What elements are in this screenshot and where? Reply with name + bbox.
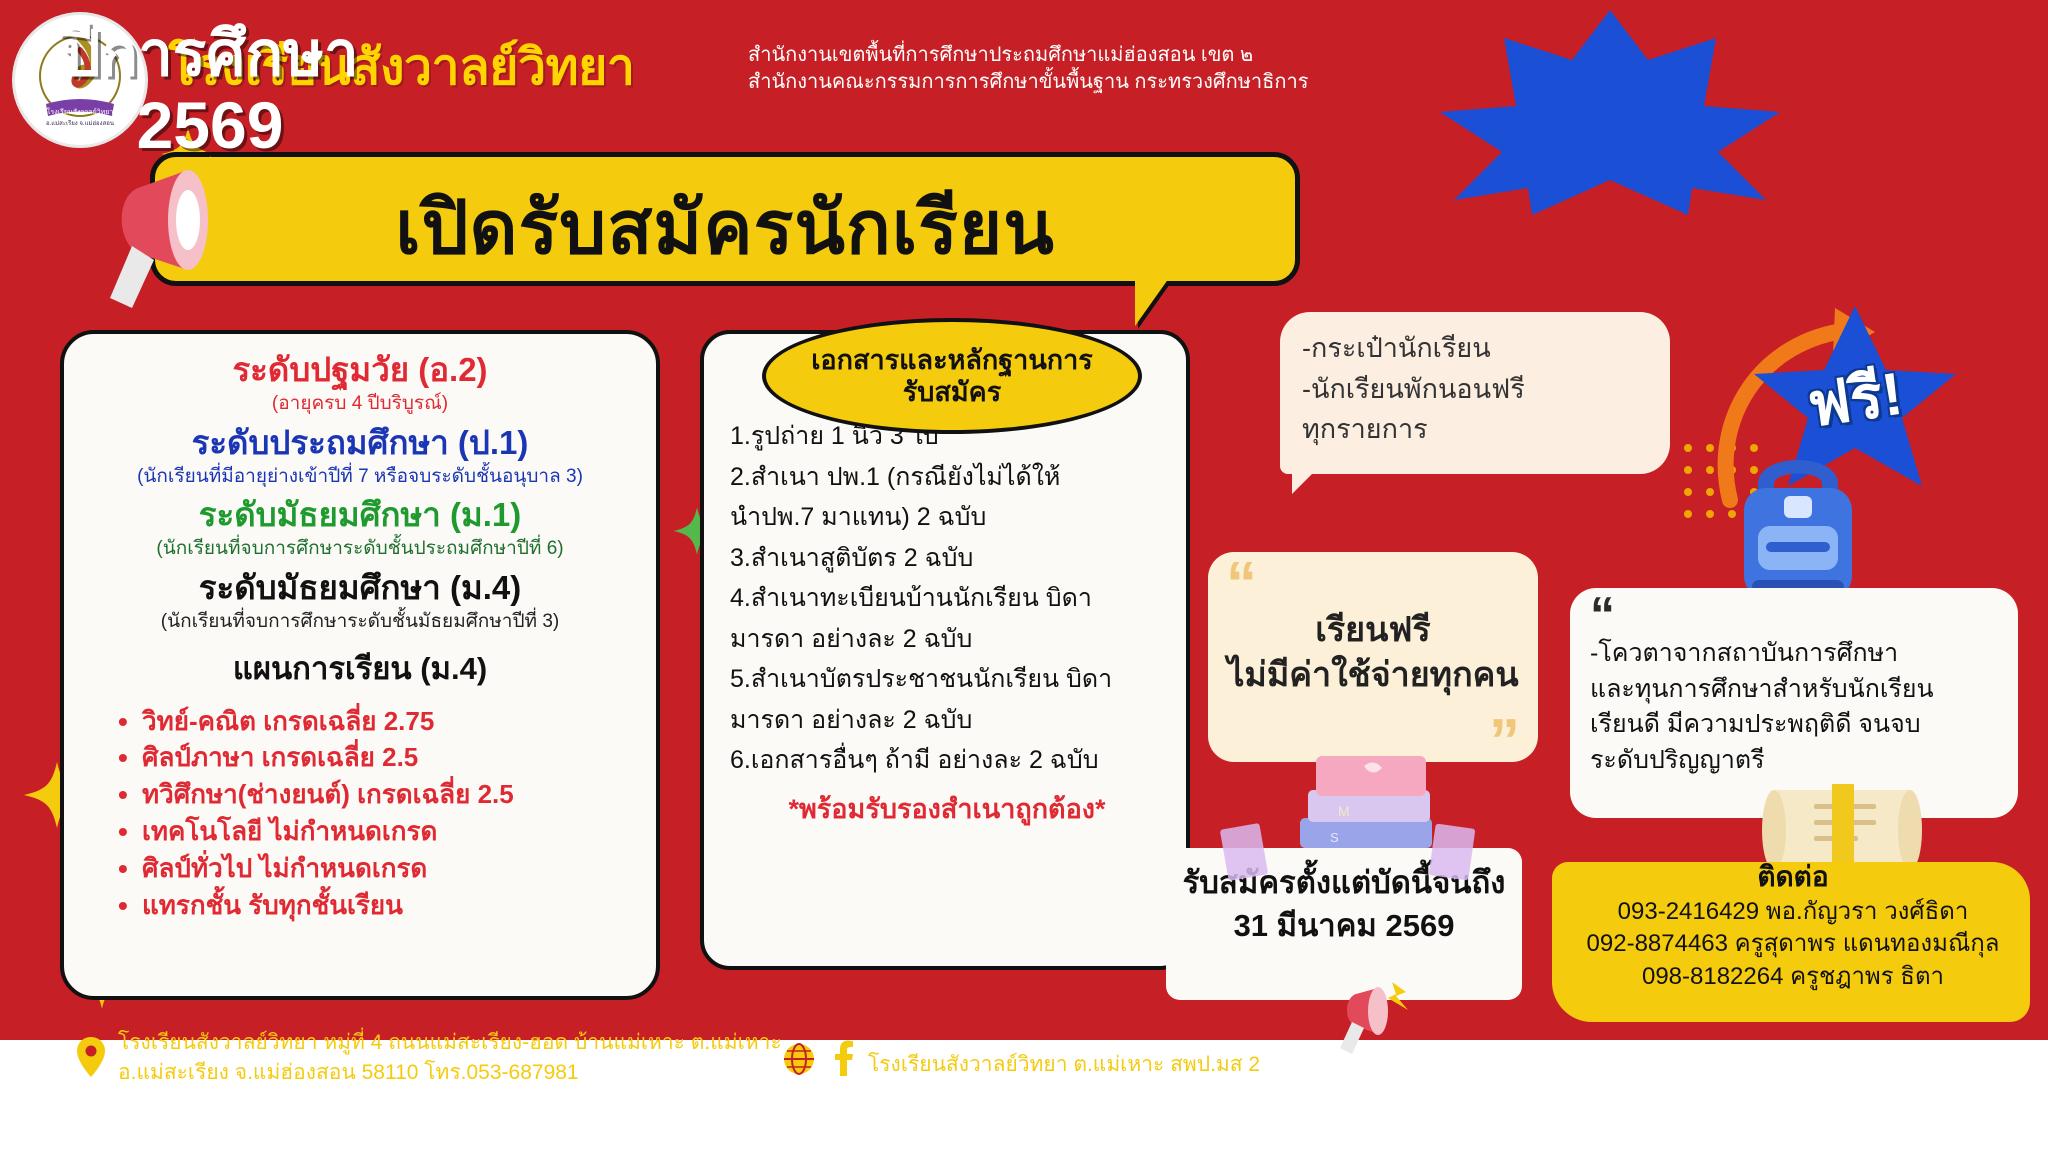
quote-line-2: ไม่มีค่าใช้จ่ายทุกคน [1226, 653, 1520, 698]
list-item: 5.สำเนาบัตรประชาชนนักเรียน บิดา [730, 659, 1164, 700]
level-note-0: (อายุครบ 4 ปีบริบูรณ์) [86, 392, 634, 417]
level-note-2: (นักเรียนที่จบการศึกษาระดับชั้นประถมศึกษ… [86, 537, 634, 562]
poster-root: โรงเรียนสังวาลย์วิทยา อ.แม่สะเรียง จ.แม่… [0, 0, 2048, 1152]
list-item: ทวิศึกษา(ช่างยนต์) เกรดเฉลี่ย 2.5 [116, 776, 634, 813]
footer-address-line-1: โรงเรียนสังวาลย์วิทยา หมู่ที่ 4 ถนนแม่สะ… [118, 1028, 782, 1058]
contact-block: ติดต่อ 093-2416429 พอ.กัญวรา วงศ์ธิดา 09… [1560, 856, 2026, 1000]
documents-title-line-2: รับสมัคร [903, 376, 1001, 408]
office-subtitle: สำนักงานเขตพื้นที่การศึกษาประถมศึกษาแม่ฮ… [748, 42, 1308, 96]
free-education-quote-card: “ เรียนฟรี ไม่มีค่าใช้จ่ายทุกคน ” [1208, 552, 1538, 762]
study-plan-title: แผนการเรียน (ม.4) [86, 643, 634, 693]
location-pin-icon [76, 1036, 106, 1078]
list-item: เทคโนโลยี ไม่กำหนดเกรด [116, 813, 634, 850]
level-title-2: ระดับมัธยมศึกษา (ม.1) [86, 497, 634, 534]
level-note-3: (นักเรียนที่จบการศึกษาระดับชั้นมัธยมศึกษ… [86, 610, 634, 635]
documents-title-line-1: เอกสารและหลักฐานการ [811, 344, 1093, 376]
level-title-1: ระดับประถมศึกษา (ป.1) [86, 425, 634, 462]
quota-open-quote-icon: “ [1590, 602, 1998, 630]
list-item: 3.สำเนาสูติบัตร 2 ฉบับ [730, 538, 1164, 579]
list-item: มารดา อย่างละ 2 ฉบับ [730, 700, 1164, 741]
list-item: 6.เอกสารอื่นๆ ถ้ามี อย่างละ 2 ฉบับ [730, 740, 1164, 781]
free-item-line-2: -นักเรียนพักนอนฟรี [1302, 369, 1648, 410]
list-item: มารดา อย่างละ 2 ฉบับ [730, 619, 1164, 660]
contact-phone-2[interactable]: 092-8874463 ครูสุดาพร แดนทองมณีกุล [1570, 928, 2016, 961]
contact-title: ติดต่อ [1570, 862, 2016, 893]
office-line-1: สำนักงานเขตพื้นที่การศึกษาประถมศึกษาแม่ฮ… [748, 42, 1308, 69]
list-item: 2.สำเนา ปพ.1 (กรณียังไม่ได้ให้ [730, 457, 1164, 498]
list-item: แทรกชั้น รับทุกชั้นเรียน [116, 887, 634, 924]
documents-list: 1.รูปถ่าย 1 นิ้ว 3 ใบ 2.สำเนา ปพ.1 (กรณี… [730, 416, 1164, 781]
close-quote-icon: ” [1489, 723, 1520, 760]
tape-decor-right [1429, 823, 1476, 880]
list-item: ศิลป์ทั่วไป ไม่กำหนดเกรด [116, 850, 634, 887]
quota-line-2: และทุนการศึกษาสำหรับนักเรียน [1590, 672, 1998, 708]
list-item: วิทย์-คณิต เกรดเฉลี่ย 2.75 [116, 703, 634, 740]
footer-address-line-2: อ.แม่สะเรียง จ.แม่ฮ่องสอน 58110 โทร.053-… [118, 1058, 782, 1088]
level-title-3: ระดับมัธยมศึกษา (ม.4) [86, 570, 634, 607]
year-line-1: ปีการศึกษา [61, 20, 359, 89]
documents-title-bubble: เอกสารและหลักฐานการ รับสมัคร [762, 318, 1142, 434]
documents-footer-note: *พร้อมรับรองสำเนาถูกต้อง* [730, 787, 1164, 830]
backpack-icon [1718, 430, 1878, 610]
announcement-banner-text: เปิดรับสมัครนักเรียน [150, 168, 1300, 286]
free-item-line-1: -กระเป๋านักเรียน [1302, 328, 1648, 369]
academic-year-label: ปีการศึกษา 2569 [0, 20, 420, 163]
academic-year-badge [1400, 10, 1820, 215]
apply-date-line-2: 31 มีนาคม 2569 [1176, 905, 1512, 948]
level-title-0: ระดับปฐมวัย (อ.2) [86, 352, 634, 389]
mini-megaphone-icon [1330, 976, 1420, 1056]
free-items-card: -กระเป๋านักเรียน -นักเรียนพักนอนฟรี ทุกร… [1280, 312, 1670, 474]
facebook-icon[interactable] [832, 1040, 856, 1076]
books-icon: M S [1290, 740, 1450, 865]
globe-icon[interactable] [782, 1042, 816, 1076]
contact-phone-3[interactable]: 098-8182264 ครูชฎาพร ธิตา [1570, 961, 2016, 994]
svg-text:M: M [1338, 803, 1350, 819]
quota-line-3: เรียนดี มีความประพฤติดี จนจบ [1590, 707, 1998, 743]
free-items-card-tail [1292, 468, 1318, 494]
footer-address: โรงเรียนสังวาลย์วิทยา หมู่ที่ 4 ถนนแม่สะ… [118, 1028, 782, 1089]
contact-phone-1[interactable]: 093-2416429 พอ.กัญวรา วงศ์ธิดา [1570, 896, 2016, 929]
list-item: นำปพ.7 มาแทน) 2 ฉบับ [730, 497, 1164, 538]
study-plan-list: วิทย์-คณิต เกรดเฉลี่ย 2.75 ศิลป์ภาษา เกร… [116, 703, 634, 924]
free-item-line-3: ทุกรายการ [1302, 409, 1648, 450]
quota-line-1: -โควตาจากสถาบันการศึกษา [1590, 636, 1998, 672]
office-line-2: สำนักงานคณะกรรมการการศึกษาขั้นพื้นฐาน กร… [748, 69, 1308, 96]
svg-text:S: S [1330, 830, 1339, 845]
quote-line-1: เรียนฟรี [1226, 608, 1520, 653]
list-item: ศิลป์ภาษา เกรดเฉลี่ย 2.5 [116, 739, 634, 776]
footer-social-handle: โรงเรียนสังวาลย์วิทยา ต.แม่เหาะ สพป.มส 2 [868, 1048, 1260, 1081]
list-item: 4.สำเนาทะเบียนบ้านนักเรียน บิดา [730, 578, 1164, 619]
levels-card: ระดับปฐมวัย (อ.2) (อายุครบ 4 ปีบริบูรณ์)… [60, 330, 660, 1000]
level-note-1: (นักเรียนที่มีอายุย่างเข้าปีที่ 7 หรือจบ… [86, 465, 634, 490]
open-quote-icon: “ [1226, 566, 1520, 600]
megaphone-icon [92, 150, 302, 310]
